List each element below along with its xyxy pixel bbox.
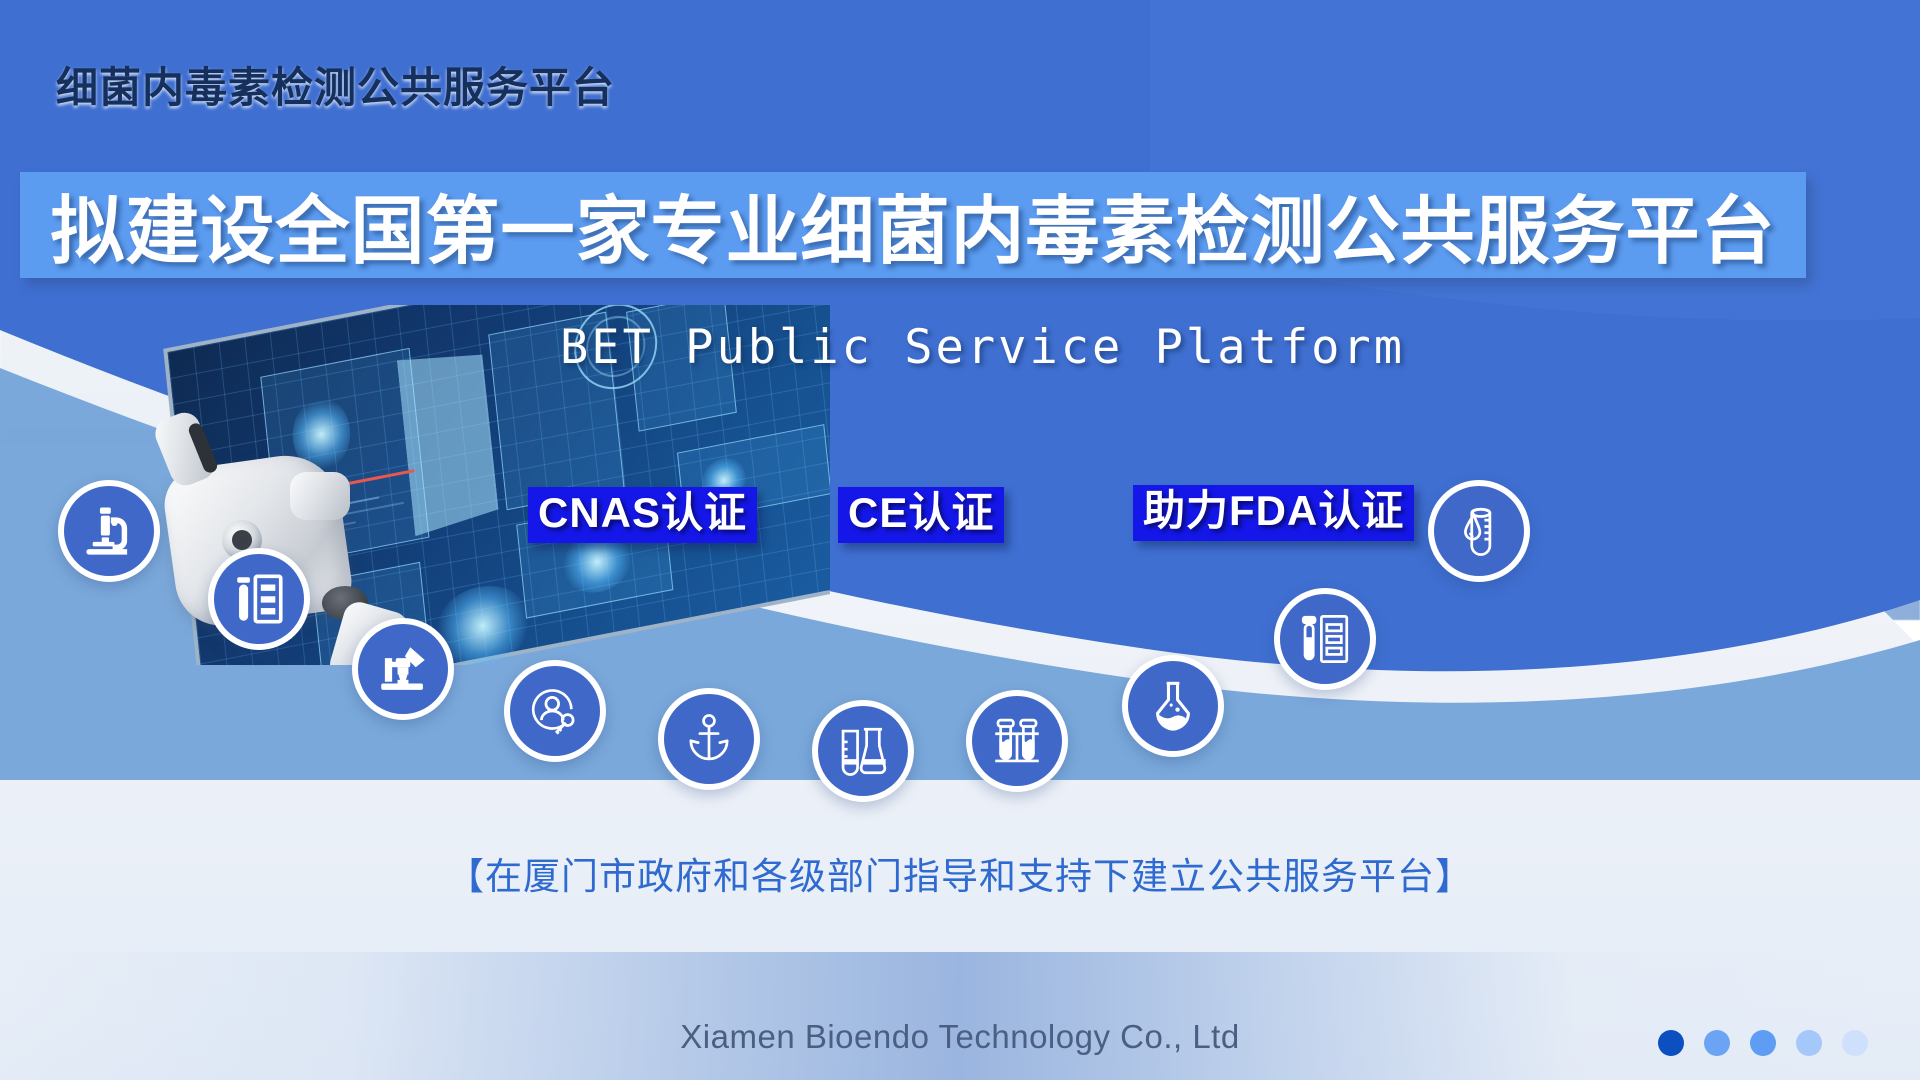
- user-key-icon[interactable]: [504, 660, 606, 762]
- headline-text: 拟建设全国第一家专业细菌内毒素检测公共服务平台: [51, 172, 1776, 279]
- test-tube-report-icon[interactable]: [208, 548, 310, 650]
- badge-fda[interactable]: 助力FDA认证: [1133, 485, 1414, 541]
- badge-cnas[interactable]: CNAS认证: [528, 487, 757, 543]
- footnote-text: 【在厦门市政府和各级部门指导和支持下建立公共服务平台】: [0, 846, 1920, 900]
- company-name: Xiamen Bioendo Technology Co., Ltd: [0, 1018, 1920, 1056]
- pagination-dot-2[interactable]: [1704, 1030, 1730, 1056]
- headline-banner: 拟建设全国第一家专业细菌内毒素检测公共服务平台: [20, 172, 1806, 278]
- pagination-dots[interactable]: [1658, 1030, 1868, 1056]
- microscope-icon[interactable]: [58, 480, 160, 582]
- page-kicker-title: 细菌内毒素检测公共服务平台: [56, 54, 615, 115]
- blood-tube-icon[interactable]: [1428, 480, 1530, 582]
- pagination-dot-1[interactable]: [1658, 1030, 1684, 1056]
- beaker-tubes-icon[interactable]: [812, 700, 914, 802]
- pagination-dot-3[interactable]: [1750, 1030, 1776, 1056]
- badge-ce[interactable]: CE认证: [838, 487, 1004, 543]
- pagination-dot-5[interactable]: [1842, 1030, 1868, 1056]
- sample-report-icon[interactable]: [1274, 588, 1376, 690]
- slide-root: 细菌内毒素检测公共服务平台 拟建设全国第一家专业细菌内毒素检测公共服务平台 BE…: [0, 0, 1920, 1080]
- english-subtitle: BET Public Service Platform: [560, 320, 1405, 375]
- robot-joint-core: [232, 530, 252, 550]
- anchor-icon[interactable]: [658, 688, 760, 790]
- flask-icon[interactable]: [1122, 655, 1224, 757]
- pagination-dot-4[interactable]: [1796, 1030, 1822, 1056]
- test-tube-rack-icon[interactable]: [966, 690, 1068, 792]
- footer-bar: [0, 952, 1920, 1080]
- lab-instrument-icon[interactable]: [352, 618, 454, 720]
- robot-wrist: [290, 472, 350, 520]
